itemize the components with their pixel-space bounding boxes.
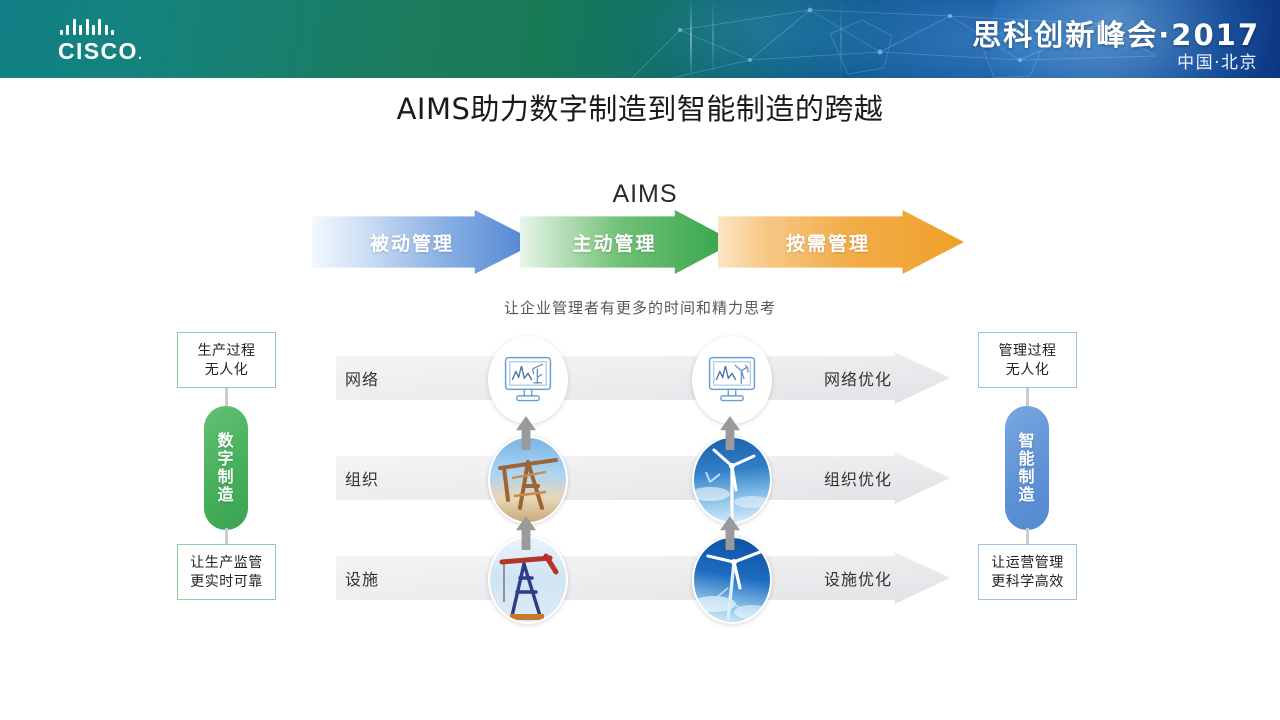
- cisco-wordmark: CISCO.: [58, 38, 174, 65]
- pill-char: 智: [1018, 432, 1035, 450]
- wind-turbine-illustration: [694, 538, 770, 622]
- pumpjack-image: [490, 438, 566, 522]
- digital-manufacturing-column: 生产过程 无人化 数 字 制 造 让生产监管 更实时可靠: [152, 332, 302, 612]
- right-top-box-line1: 管理过程: [983, 341, 1072, 360]
- pill-char: 字: [217, 450, 234, 468]
- wind-turbine-illustration: [694, 438, 770, 522]
- intelligent-manufacturing-pill: 智 能 制 造: [1005, 406, 1049, 530]
- pill-char: 能: [1018, 450, 1035, 468]
- aims-label-text: AIMS: [612, 180, 677, 208]
- cisco-logo: CISCO.: [58, 18, 174, 62]
- cisco-wordmark-dot: .: [138, 46, 144, 63]
- up-arrow-icon: [516, 516, 536, 550]
- pill-char: 制: [1018, 468, 1035, 486]
- flow-arrow-active-management: 主动管理: [520, 210, 735, 274]
- left-top-box-line1: 生产过程: [182, 341, 271, 360]
- page-title: AIMS助力数字制造到智能制造的跨越: [0, 86, 1280, 128]
- matrix-row-outcome-network: 网络优化: [824, 366, 954, 390]
- up-arrow-icon: [720, 416, 740, 450]
- right-bottom-box: 让运营管理 更科学高效: [978, 544, 1077, 600]
- up-arrow-icon: [720, 516, 740, 550]
- flow-arrow-label: 按需管理: [718, 229, 964, 256]
- pill-char: 制: [217, 468, 234, 486]
- monitor-icon: [500, 352, 556, 408]
- left-top-box: 生产过程 无人化: [177, 332, 276, 388]
- monitor-chart-pumpjack-icon: [488, 336, 568, 424]
- flow-arrow-on-demand-management: 按需管理: [718, 210, 964, 274]
- pumpjack-illustration: [490, 438, 566, 522]
- monitor-chart-turbine-icon: [692, 336, 772, 424]
- pumpjack-illustration: [490, 538, 566, 622]
- right-top-box: 管理过程 无人化: [978, 332, 1077, 388]
- left-bottom-box-line2: 更实时可靠: [182, 572, 271, 591]
- pumpjack-image: [490, 538, 566, 622]
- monitor-icon: [704, 352, 760, 408]
- left-bottom-box-line1: 让生产监管: [182, 553, 271, 572]
- digital-manufacturing-pill: 数 字 制 造: [204, 406, 248, 530]
- turbine-image: [694, 438, 770, 522]
- right-top-box-line2: 无人化: [983, 360, 1072, 379]
- right-bottom-box-line2: 更科学高效: [983, 572, 1072, 591]
- header-banner: CISCO. 思科创新峰会·2017 中国·北京: [0, 0, 1280, 78]
- up-arrow-icon: [516, 416, 536, 450]
- matrix-row-outcome-organization: 组织优化: [824, 466, 954, 490]
- pill-char: 造: [1018, 486, 1035, 504]
- flow-arrow-label: 主动管理: [520, 229, 735, 256]
- cisco-wordmark-text: CISCO: [58, 38, 138, 64]
- matrix-row-label-facility: 设施: [345, 566, 455, 590]
- pill-char: 造: [217, 486, 234, 504]
- maturity-flow-arrows: 被动管理 主动管理 按需管理: [312, 210, 964, 282]
- right-bottom-box-line1: 让运营管理: [983, 553, 1072, 572]
- matrix-row-label-organization: 组织: [345, 466, 455, 490]
- summit-subtitle: 中国·北京: [1177, 48, 1258, 73]
- pill-char: 数: [217, 432, 234, 450]
- flow-caption: 让企业管理者有更多的时间和精力思考: [0, 297, 1280, 318]
- aims-label: AIMS: [0, 180, 1280, 209]
- intelligent-manufacturing-column: 管理过程 无人化 智 能 制 造 让运营管理 更科学高效: [953, 332, 1103, 612]
- flow-arrow-label: 被动管理: [312, 229, 538, 256]
- left-bottom-box: 让生产监管 更实时可靠: [177, 544, 276, 600]
- left-top-box-line2: 无人化: [182, 360, 271, 379]
- matrix-row-label-network: 网络: [345, 366, 455, 390]
- cisco-bars-icon: [58, 18, 174, 35]
- turbine-image: [694, 538, 770, 622]
- flow-arrow-passive-management: 被动管理: [312, 210, 538, 274]
- matrix-row-outcome-facility: 设施优化: [824, 566, 954, 590]
